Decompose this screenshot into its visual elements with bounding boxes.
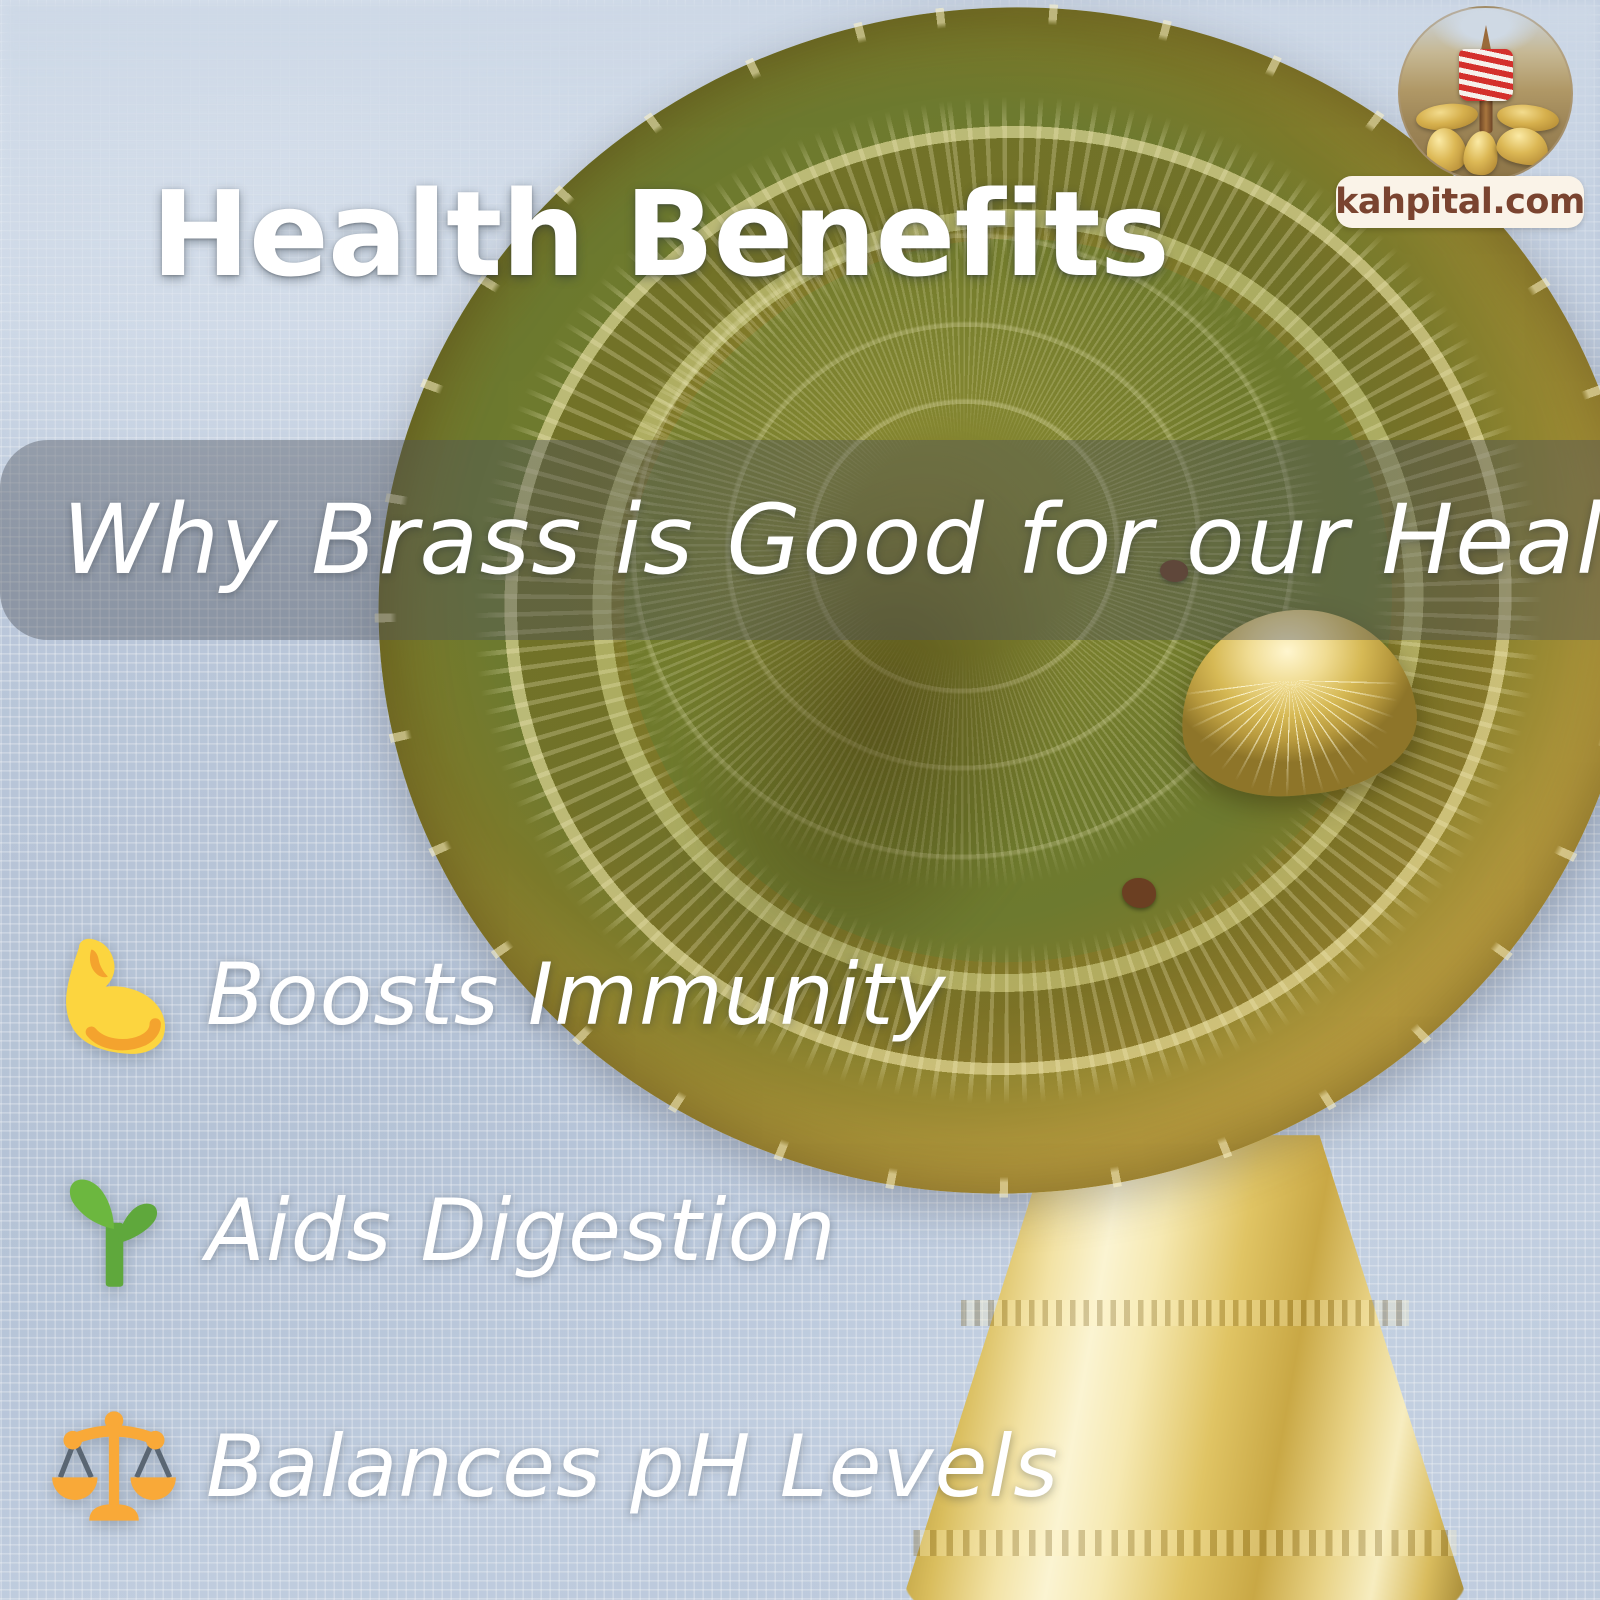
brass-puja-items-circle-icon xyxy=(1398,6,1573,181)
subtitle-banner: Why Brass is Good for our Health ? xyxy=(0,440,1600,640)
benefit-label: Boosts Immunity xyxy=(206,945,946,1045)
benefit-label: Balances pH Levels xyxy=(206,1417,1059,1517)
brass-speck xyxy=(1122,878,1156,908)
benefit-label: Aids Digestion xyxy=(206,1181,837,1281)
poster-canvas: Health Benefits Why Brass is Good for ou… xyxy=(0,0,1600,1600)
benefit-item-boosts-immunity: Boosts Immunity xyxy=(48,915,1148,1075)
balance-scale-icon xyxy=(48,1401,180,1533)
brass-bell-left-icon xyxy=(1422,124,1470,175)
gamosa-cloth-icon xyxy=(1459,49,1513,101)
lamp-cone-rays xyxy=(1171,668,1425,842)
brand-badge[interactable]: kahpital.com xyxy=(1336,176,1584,228)
benefits-list: Boosts Immunity Aids Digestion xyxy=(48,915,1148,1600)
flexed-biceps-icon xyxy=(48,929,180,1061)
brand-watermark[interactable]: kahpital.com xyxy=(1336,4,1586,239)
page-title: Health Benefits xyxy=(0,175,1320,293)
benefit-item-aids-digestion: Aids Digestion xyxy=(48,1151,1148,1311)
subtitle-text: Why Brass is Good for our Health ? xyxy=(0,484,1600,596)
benefit-item-balances-ph-levels: Balances pH Levels xyxy=(48,1387,1148,1547)
seedling-icon xyxy=(48,1165,180,1297)
brass-bell-center-icon xyxy=(1462,129,1500,176)
brand-name: kahpital.com xyxy=(1335,182,1585,222)
